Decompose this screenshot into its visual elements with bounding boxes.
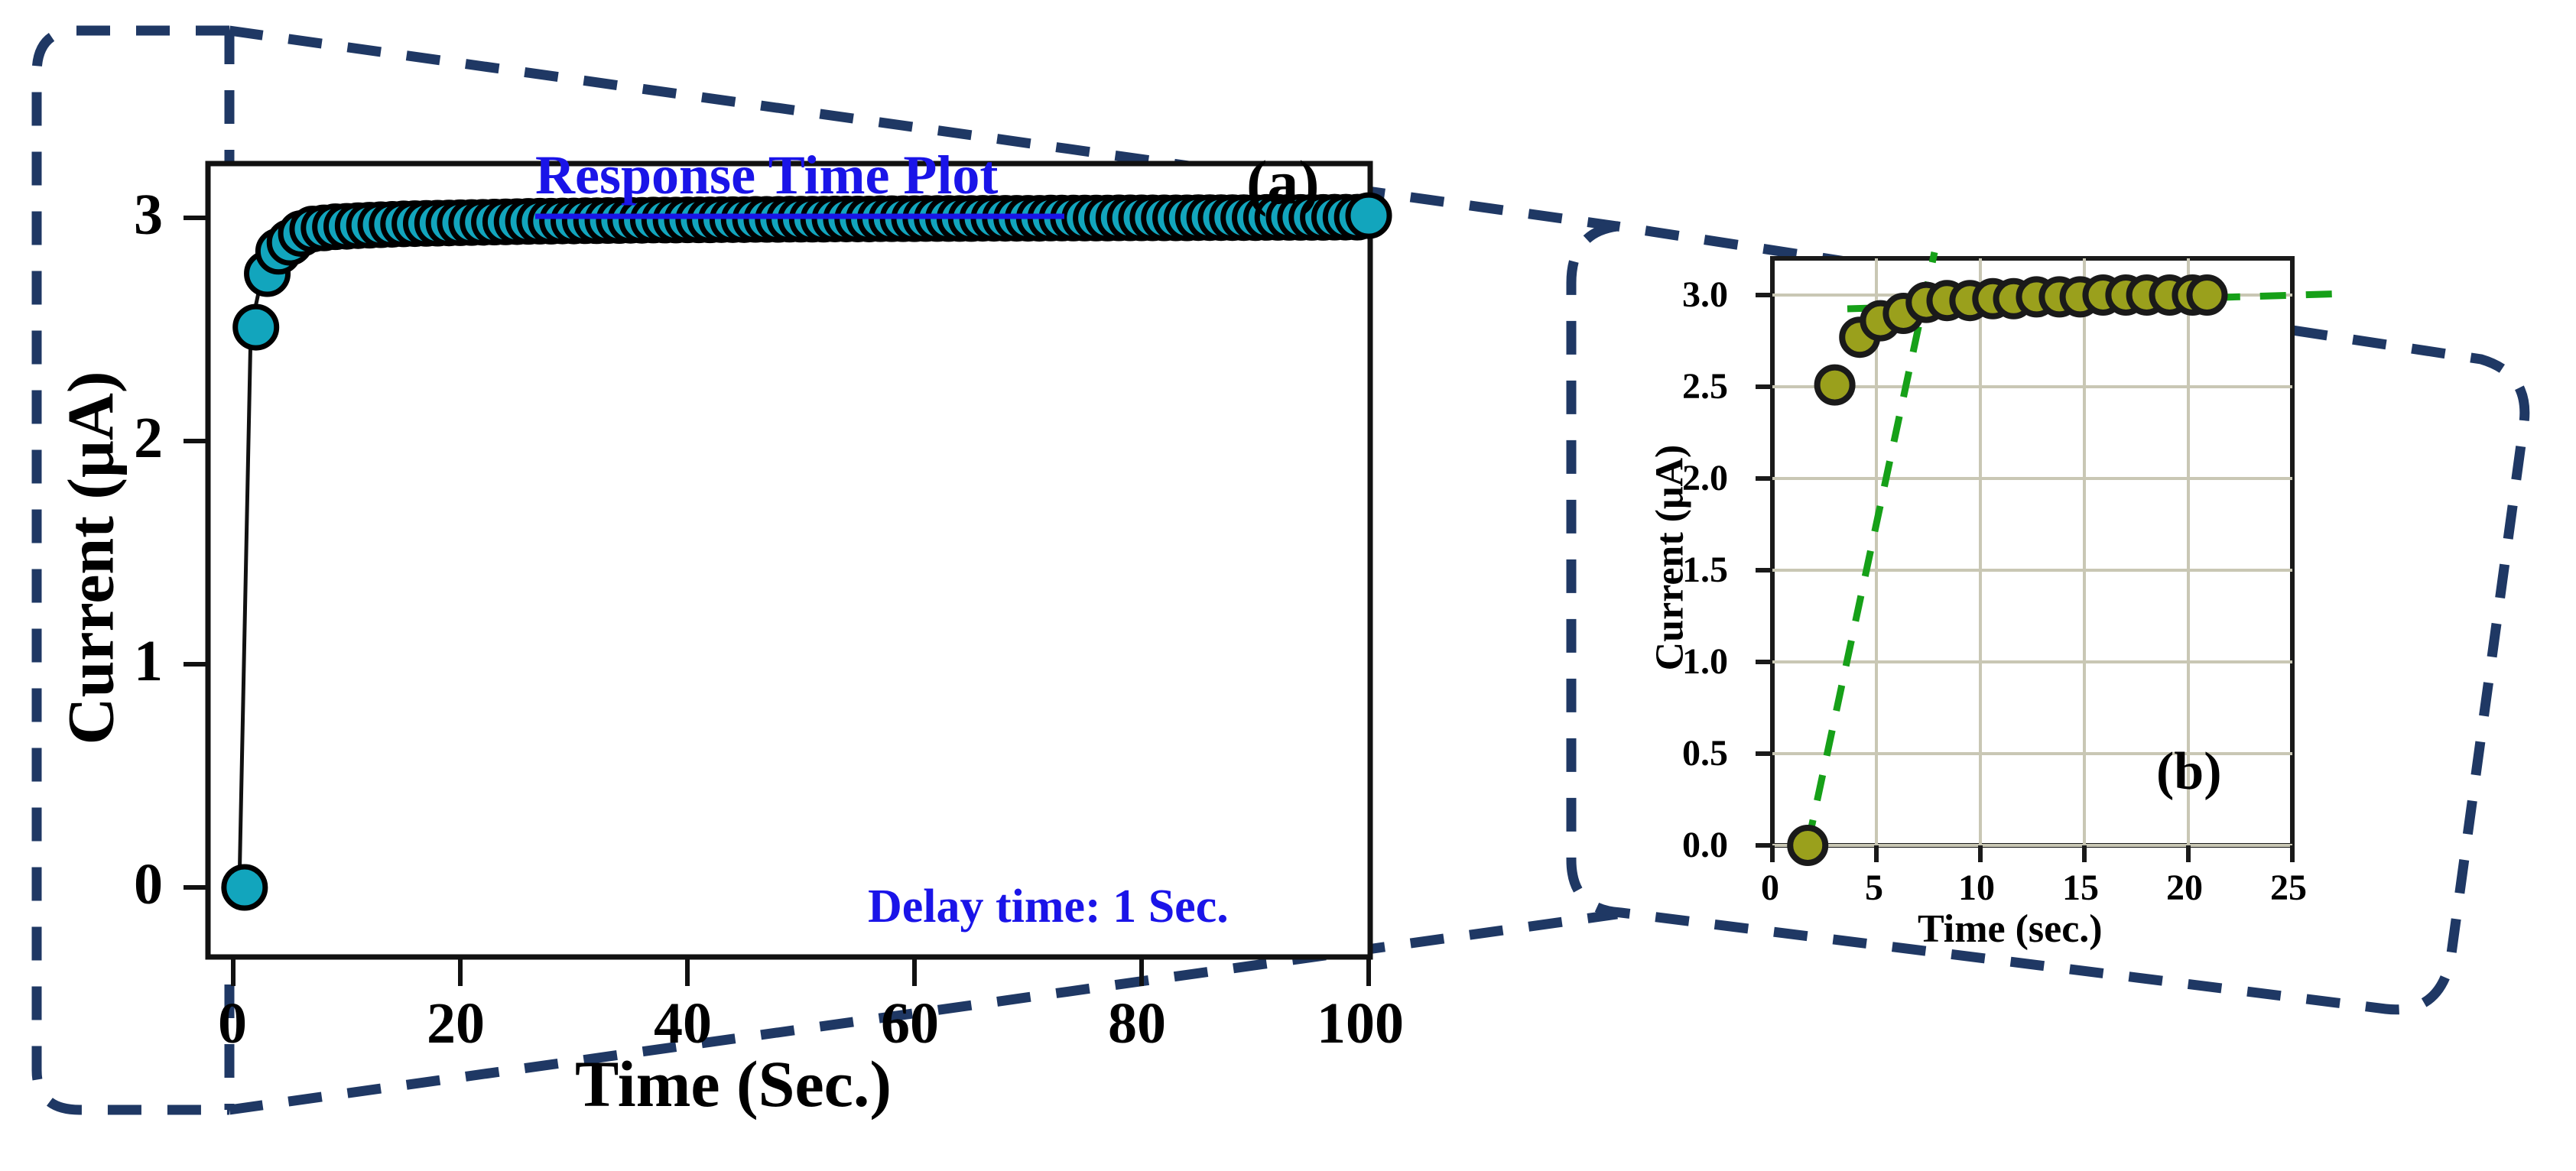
panel-a-xtick-0: 0 xyxy=(218,991,247,1057)
panel-b-xtick-25: 25 xyxy=(2270,867,2307,909)
panel-a-xtick-60: 60 xyxy=(881,991,939,1057)
panel-a-ytick-marks xyxy=(184,218,208,887)
panel-b-xtick-0: 0 xyxy=(1761,867,1779,909)
panel-b-ytick-5: 2.5 xyxy=(1682,365,1728,407)
panel-b-xtick-marks xyxy=(1772,845,2292,862)
panel-b-xtick-20: 20 xyxy=(2166,867,2203,909)
panel-a-annotation: Delay time: 1 Sec. xyxy=(868,880,1229,934)
panel-b-ytick-3: 1.5 xyxy=(1682,549,1728,591)
data-point xyxy=(1790,828,1825,863)
panel-b-ytick-0: 0.0 xyxy=(1682,824,1728,866)
panel-b-label: (b) xyxy=(2156,741,2222,803)
panel-a-label: (a) xyxy=(1246,147,1320,219)
panel-a-xtick-100: 100 xyxy=(1317,991,1404,1057)
panel-a-xlabel: Time (Sec.) xyxy=(575,1046,892,1122)
data-point xyxy=(236,307,277,348)
data-point xyxy=(224,867,265,908)
panel-a xyxy=(184,164,1389,986)
panel-a-title: Response Time Plot xyxy=(535,144,998,207)
panel-b-ytick-1: 0.5 xyxy=(1682,732,1728,774)
panel-a-xtick-20: 20 xyxy=(427,991,485,1057)
panel-b-ytick-marks xyxy=(1756,295,1772,845)
panel-a-ylabel: Current (μA) xyxy=(53,371,129,745)
panel-a-ytick-2: 2 xyxy=(134,405,163,472)
figure-root: { "figure": { "background": "#ffffff", "… xyxy=(0,0,2576,1171)
panel-b-xtick-5: 5 xyxy=(1865,867,1883,909)
panel-b-ytick-4: 2.0 xyxy=(1682,457,1728,499)
data-point xyxy=(1817,368,1853,403)
panel-a-ytick-3: 3 xyxy=(134,182,163,248)
panel-a-xtick-40: 40 xyxy=(654,991,712,1057)
panel-b-xlabel: Time (sec.) xyxy=(1918,907,2103,952)
panel-a-plot-frame xyxy=(208,164,1370,957)
data-point xyxy=(2189,277,2224,313)
panel-b-xtick-10: 10 xyxy=(1958,867,1995,909)
panel-a-xtick-80: 80 xyxy=(1108,991,1166,1057)
panel-b-ytick-6: 3.0 xyxy=(1682,274,1728,316)
panel-a-ytick-1: 1 xyxy=(134,628,163,695)
data-point xyxy=(1348,195,1389,236)
panel-b-xtick-15: 15 xyxy=(2062,867,2099,909)
panel-b xyxy=(1756,252,2347,863)
panel-b-ytick-2: 1.0 xyxy=(1682,641,1728,683)
panel-a-ytick-0: 0 xyxy=(134,851,163,918)
